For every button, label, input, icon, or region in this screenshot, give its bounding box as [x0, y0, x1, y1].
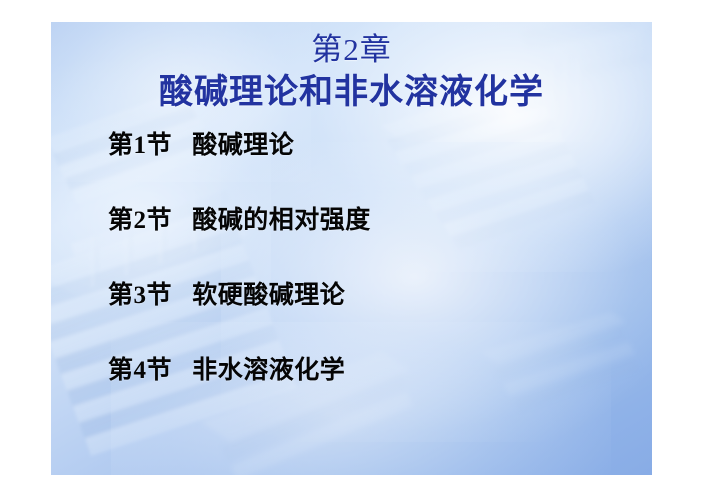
list-item: 第1节 酸碱理论	[108, 130, 628, 205]
slide-title-block: 第2章 酸碱理论和非水溶液化学	[51, 30, 652, 115]
slide-section-list: 第1节 酸碱理论 第2节 酸碱的相对强度 第3节 软硬酸碱理论 第4节 非水溶液…	[108, 130, 628, 430]
slide-title-chapter: 第2章	[51, 30, 652, 70]
list-item: 第2节 酸碱的相对强度	[108, 205, 628, 280]
list-item: 第3节 软硬酸碱理论	[108, 280, 628, 355]
presentation-slide: 第2章 酸碱理论和非水溶液化学 第1节 酸碱理论 第2节 酸碱的相对强度 第3节…	[51, 22, 652, 475]
slide-canvas: 第2章 酸碱理论和非水溶液化学 第1节 酸碱理论 第2节 酸碱的相对强度 第3节…	[0, 0, 702, 496]
list-item: 第4节 非水溶液化学	[108, 355, 628, 430]
slide-title-subject: 酸碱理论和非水溶液化学	[51, 70, 652, 115]
